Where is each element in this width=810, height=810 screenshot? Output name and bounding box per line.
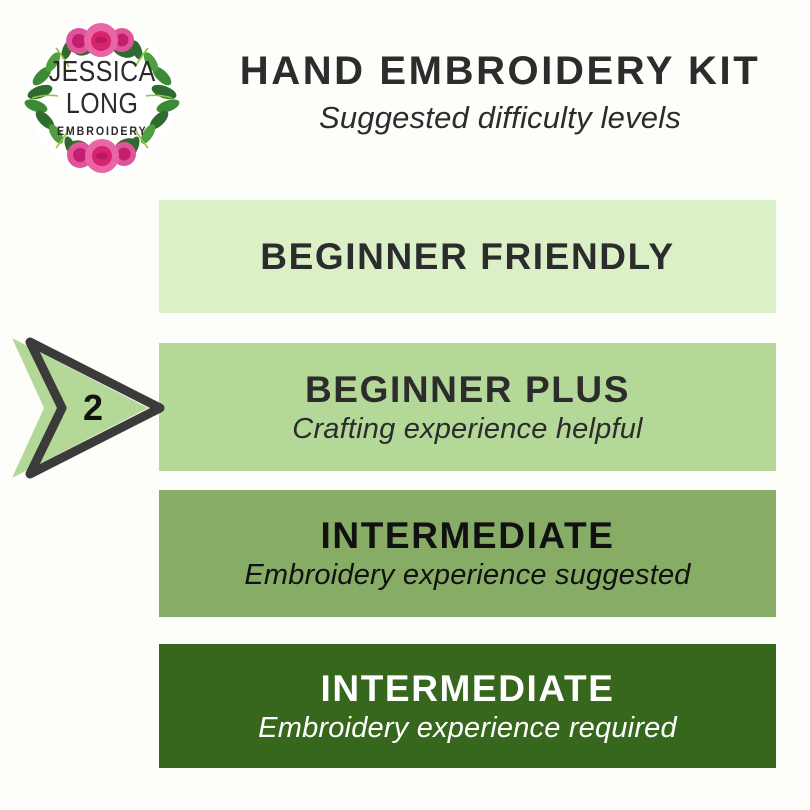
level-subtitle: Embroidery experience suggested: [244, 557, 690, 593]
header: HAND EMBROIDERY KIT Suggested difficulty…: [200, 48, 800, 138]
page-title: HAND EMBROIDERY KIT: [200, 48, 800, 94]
arrow-right-icon: [8, 328, 168, 488]
difficulty-levels-infographic: JESSICA LONG EMBROIDERY HAND EMBROIDERY …: [0, 0, 810, 810]
level-title: INTERMEDIATE: [321, 514, 615, 557]
level-subtitle: Crafting experience helpful: [292, 411, 642, 447]
level-title: INTERMEDIATE: [321, 667, 615, 710]
page-subtitle: Suggested difficulty levels: [200, 98, 800, 138]
level-title: BEGINNER PLUS: [305, 368, 630, 411]
level-title: BEGINNER FRIENDLY: [260, 235, 674, 278]
difficulty-level-intermediate-suggested[interactable]: INTERMEDIATE Embroidery experience sugge…: [159, 490, 776, 617]
brand-logo: JESSICA LONG EMBROIDERY: [12, 8, 192, 188]
difficulty-level-intermediate-required[interactable]: INTERMEDIATE Embroidery experience requi…: [159, 644, 776, 768]
difficulty-level-list: BEGINNER FRIENDLY BEGINNER PLUS Crafting…: [159, 200, 776, 768]
difficulty-level-beginner-friendly[interactable]: BEGINNER FRIENDLY: [159, 200, 776, 313]
floral-wreath-icon: [12, 8, 192, 188]
selected-level-marker: 2: [8, 328, 168, 488]
level-subtitle: Embroidery experience required: [258, 710, 677, 746]
difficulty-level-beginner-plus[interactable]: BEGINNER PLUS Crafting experience helpfu…: [159, 343, 776, 471]
arrow-fill-shape: [12, 338, 148, 478]
